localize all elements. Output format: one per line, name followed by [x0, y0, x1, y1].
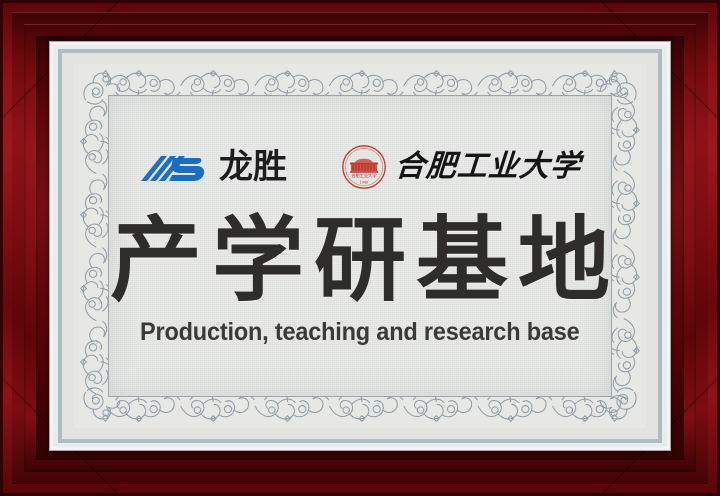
mat-blue-grey-band: 龙胜	[58, 49, 662, 443]
award-plaque: 龙胜	[0, 0, 720, 496]
company-brand: 龙胜	[139, 148, 287, 186]
svg-text:1945: 1945	[360, 181, 369, 185]
university-brand: 合肥工业大学 1945 合肥工业大学	[341, 144, 581, 190]
inner-keyline-field: 龙胜	[108, 95, 612, 397]
plaque-title: 产学研基地	[100, 214, 620, 308]
plaque-subtitle: Production, teaching and research base	[140, 318, 579, 347]
logo-row: 龙胜	[139, 144, 581, 190]
company-name-cn: 龙胜	[219, 150, 287, 184]
university-seal-icon: 合肥工业大学 1945	[341, 144, 387, 190]
svg-text:合肥工业大学: 合肥工业大学	[351, 172, 376, 179]
plaque-content: 龙胜	[109, 96, 611, 396]
university-name-cn: 合肥工业大学	[394, 152, 582, 182]
ls-swoosh-logo-icon	[139, 148, 213, 186]
certificate-mat: 龙胜	[50, 42, 670, 450]
